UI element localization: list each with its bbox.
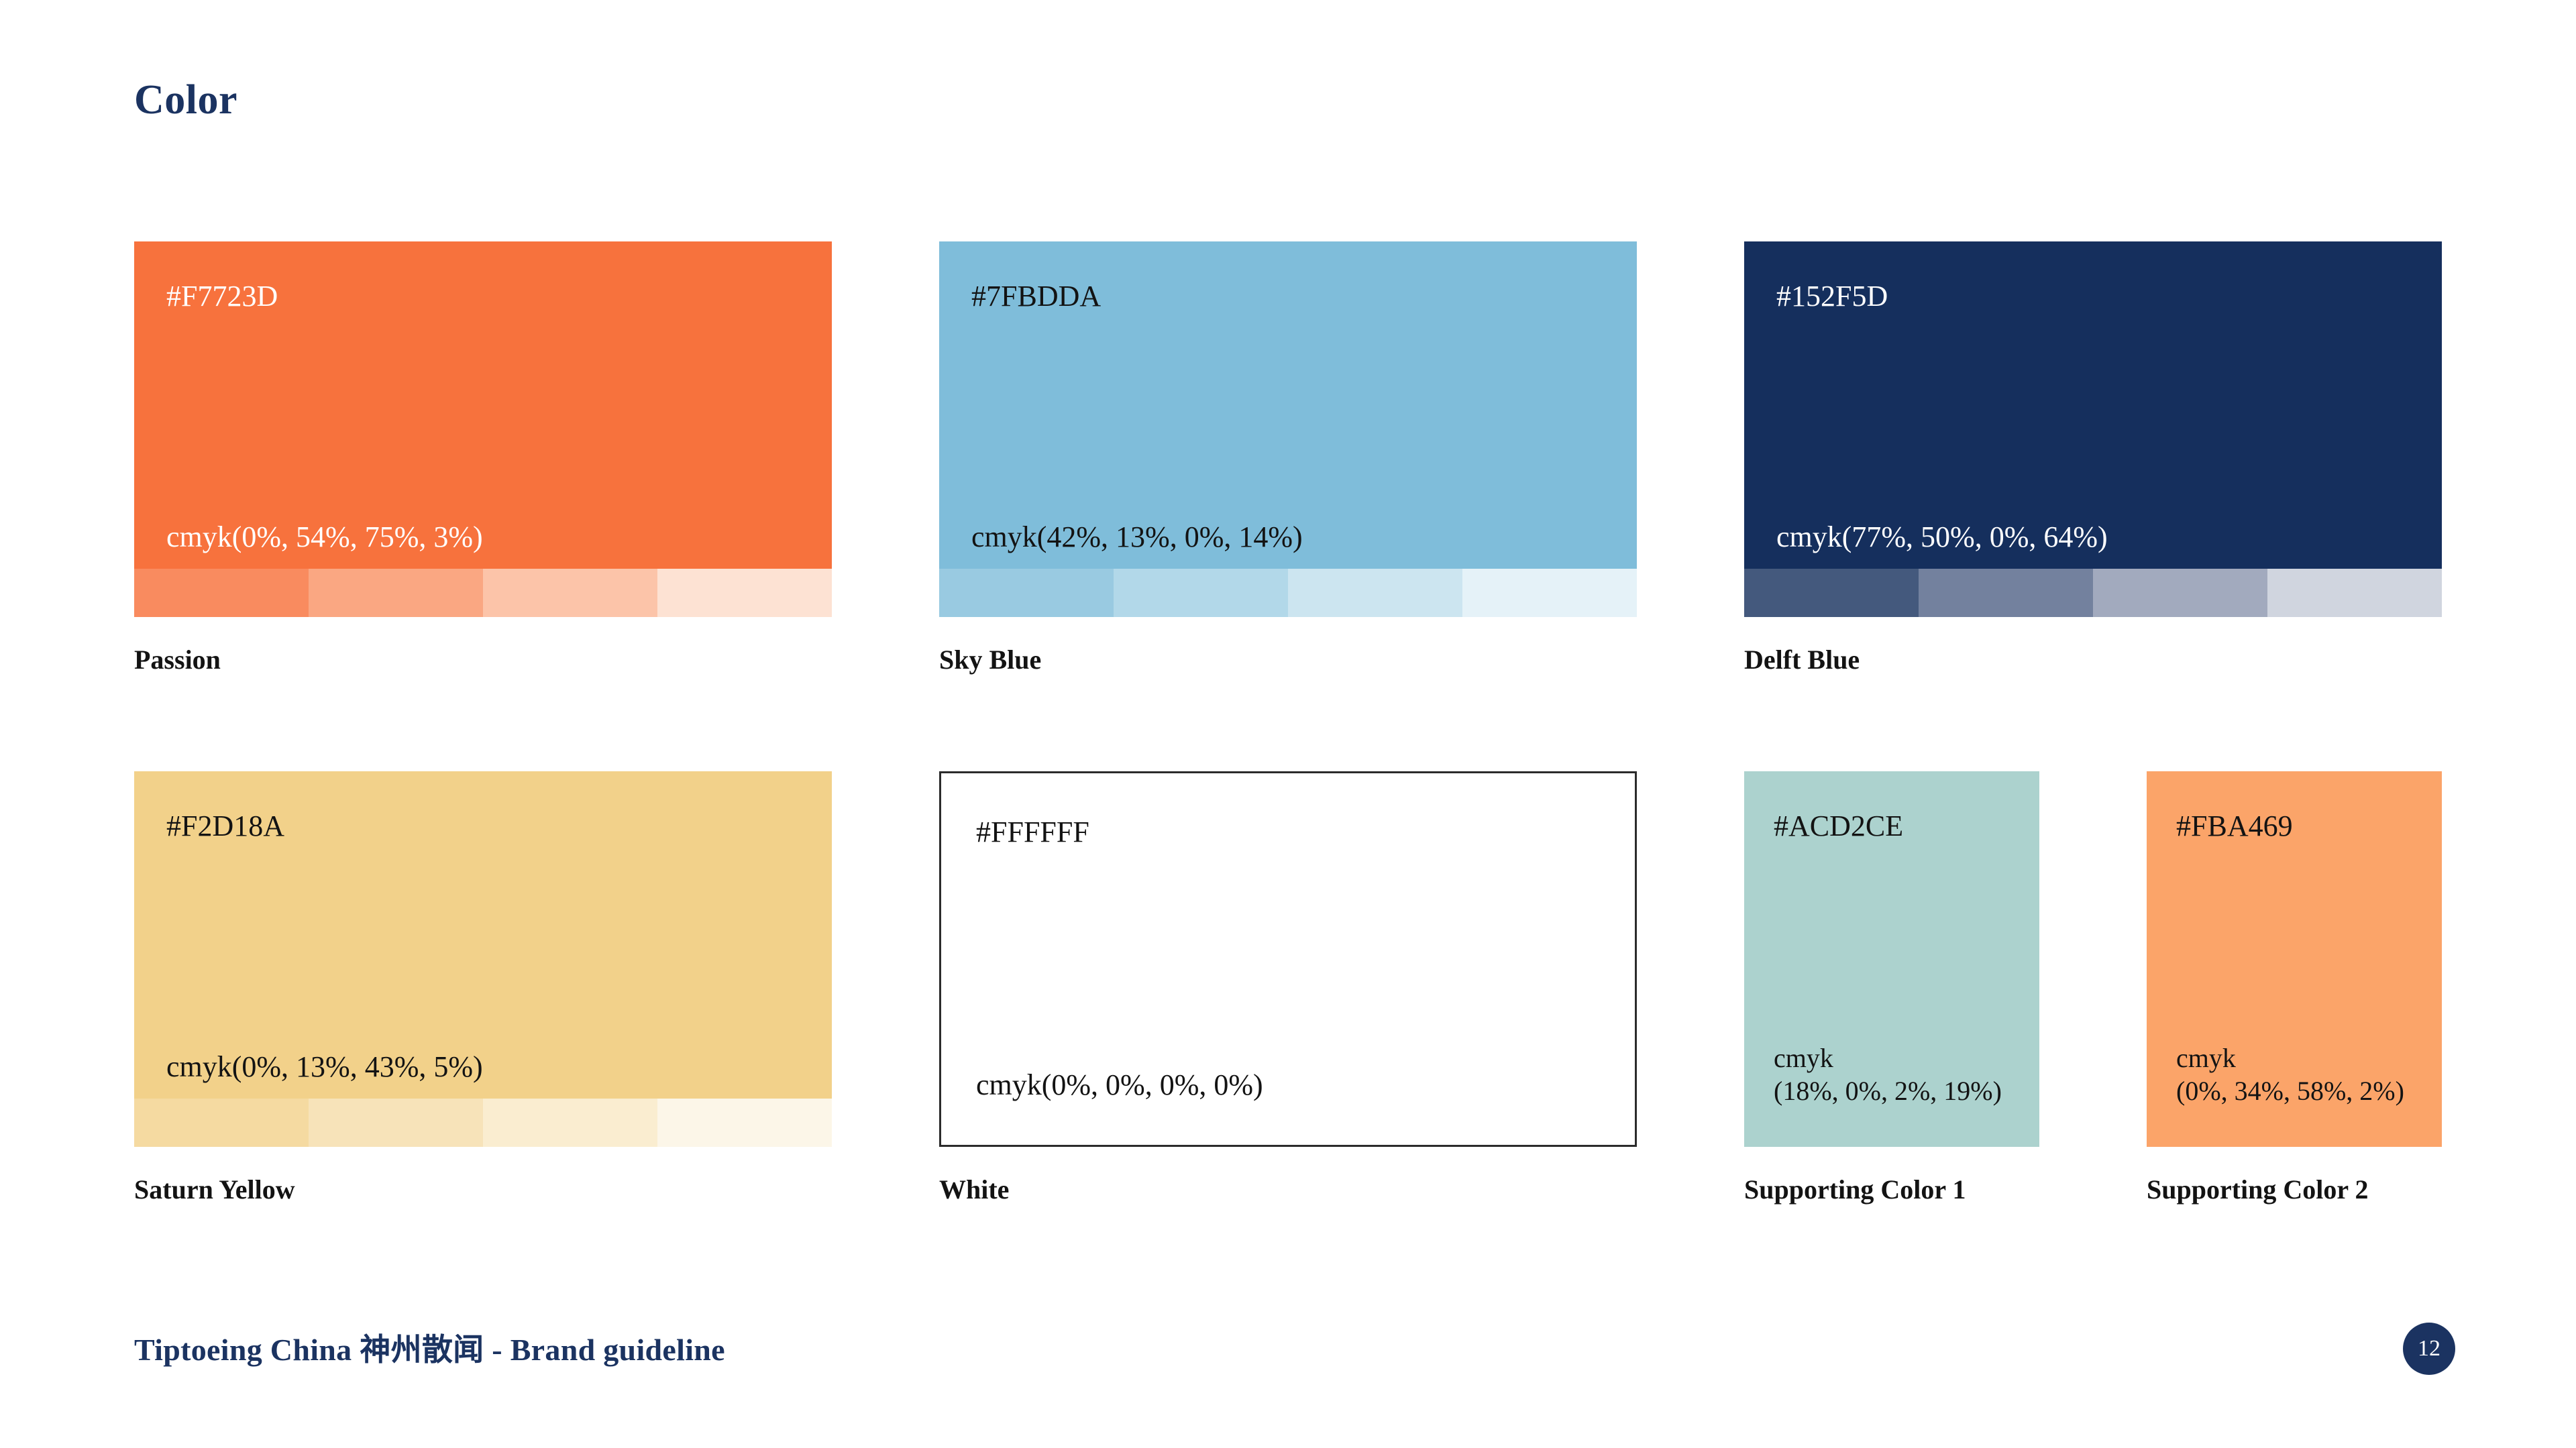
color-card-supporting-1[interactable]: #ACD2CE cmyk (18%, 0%, 2%, 19%) Supporti… bbox=[1744, 771, 2039, 1203]
swatch-hex-value: #7FBDDA bbox=[971, 282, 1101, 311]
tint-swatch bbox=[309, 569, 483, 617]
swatch-cmyk-value: cmyk (18%, 0%, 2%, 19%) bbox=[1774, 1042, 2002, 1108]
tint-swatch bbox=[1919, 569, 2093, 617]
color-swatch-supporting-1: #ACD2CE cmyk (18%, 0%, 2%, 19%) bbox=[1744, 771, 2039, 1147]
color-card-supporting-pair: #ACD2CE cmyk (18%, 0%, 2%, 19%) Supporti… bbox=[1744, 771, 2442, 1190]
tint-strip bbox=[134, 1099, 832, 1147]
color-name-label: Sky Blue bbox=[939, 647, 1637, 673]
tint-swatch bbox=[1288, 569, 1462, 617]
swatch-hex-value: #F7723D bbox=[166, 282, 278, 311]
color-name-label: White bbox=[939, 1176, 1637, 1203]
swatch-cmyk-value: cmyk(0%, 0%, 0%, 0%) bbox=[976, 1067, 1263, 1103]
color-name-label: Saturn Yellow bbox=[134, 1176, 832, 1203]
swatch-hex-value: #FBA469 bbox=[2176, 812, 2293, 841]
tint-swatch bbox=[657, 1099, 832, 1147]
tint-swatch bbox=[1114, 569, 1288, 617]
swatch-cmyk-value: cmyk (0%, 34%, 58%, 2%) bbox=[2176, 1042, 2404, 1108]
swatch-hex-value: #F2D18A bbox=[166, 812, 284, 841]
palette-row-primary: #F7723D cmyk(0%, 54%, 75%, 3%) Passion #… bbox=[134, 241, 2442, 661]
swatch-cmyk-value: cmyk(42%, 13%, 0%, 14%) bbox=[971, 519, 1303, 555]
page-title: Color bbox=[134, 79, 237, 121]
tint-swatch bbox=[134, 1099, 309, 1147]
page-number-badge: 12 bbox=[2403, 1323, 2455, 1375]
color-name-label: Supporting Color 2 bbox=[2147, 1176, 2442, 1203]
color-name-label: Passion bbox=[134, 647, 832, 673]
color-palette-grid: #F7723D cmyk(0%, 54%, 75%, 3%) Passion #… bbox=[134, 241, 2442, 1190]
tint-swatch bbox=[309, 1099, 483, 1147]
tint-strip bbox=[1744, 569, 2442, 617]
swatch-cmyk-value: cmyk(77%, 50%, 0%, 64%) bbox=[1776, 519, 2108, 555]
footer-brand-text: Tiptoeing China 神州散闻 - Brand guideline bbox=[134, 1335, 725, 1366]
tint-swatch bbox=[1462, 569, 1637, 617]
swatch-hex-value: #152F5D bbox=[1776, 282, 1888, 311]
color-swatch-sky-blue: #7FBDDA cmyk(42%, 13%, 0%, 14%) bbox=[939, 241, 1637, 617]
color-card-delft-blue[interactable]: #152F5D cmyk(77%, 50%, 0%, 64%) Delft Bl… bbox=[1744, 241, 2442, 661]
color-name-label: Delft Blue bbox=[1744, 647, 2442, 673]
tint-swatch bbox=[483, 1099, 657, 1147]
swatch-hex-value: #ACD2CE bbox=[1774, 812, 1903, 841]
swatch-cmyk-value: cmyk(0%, 13%, 43%, 5%) bbox=[166, 1049, 483, 1085]
swatch-cmyk-value: cmyk(0%, 54%, 75%, 3%) bbox=[166, 519, 483, 555]
tint-swatch bbox=[483, 569, 657, 617]
color-card-white[interactable]: #FFFFFF cmyk(0%, 0%, 0%, 0%) White bbox=[939, 771, 1637, 1190]
color-swatch-delft-blue: #152F5D cmyk(77%, 50%, 0%, 64%) bbox=[1744, 241, 2442, 617]
tint-swatch bbox=[134, 569, 309, 617]
color-card-passion[interactable]: #F7723D cmyk(0%, 54%, 75%, 3%) Passion bbox=[134, 241, 832, 661]
swatch-hex-value: #FFFFFF bbox=[976, 818, 1089, 847]
color-swatch-supporting-2: #FBA469 cmyk (0%, 34%, 58%, 2%) bbox=[2147, 771, 2442, 1147]
tint-swatch bbox=[2267, 569, 2442, 617]
color-swatch-white: #FFFFFF cmyk(0%, 0%, 0%, 0%) bbox=[939, 771, 1637, 1147]
tint-strip bbox=[134, 569, 832, 617]
palette-row-secondary: #F2D18A cmyk(0%, 13%, 43%, 5%) Saturn Ye… bbox=[134, 771, 2442, 1190]
color-name-label: Supporting Color 1 bbox=[1744, 1176, 2039, 1203]
color-card-saturn-yellow[interactable]: #F2D18A cmyk(0%, 13%, 43%, 5%) Saturn Ye… bbox=[134, 771, 832, 1190]
color-card-sky-blue[interactable]: #7FBDDA cmyk(42%, 13%, 0%, 14%) Sky Blue bbox=[939, 241, 1637, 661]
tint-swatch bbox=[1744, 569, 1919, 617]
color-swatch-saturn-yellow: #F2D18A cmyk(0%, 13%, 43%, 5%) bbox=[134, 771, 832, 1147]
tint-swatch bbox=[939, 569, 1114, 617]
color-swatch-passion: #F7723D cmyk(0%, 54%, 75%, 3%) bbox=[134, 241, 832, 617]
color-card-supporting-2[interactable]: #FBA469 cmyk (0%, 34%, 58%, 2%) Supporti… bbox=[2147, 771, 2442, 1203]
tint-swatch bbox=[657, 569, 832, 617]
tint-strip bbox=[939, 569, 1637, 617]
tint-swatch bbox=[2093, 569, 2267, 617]
